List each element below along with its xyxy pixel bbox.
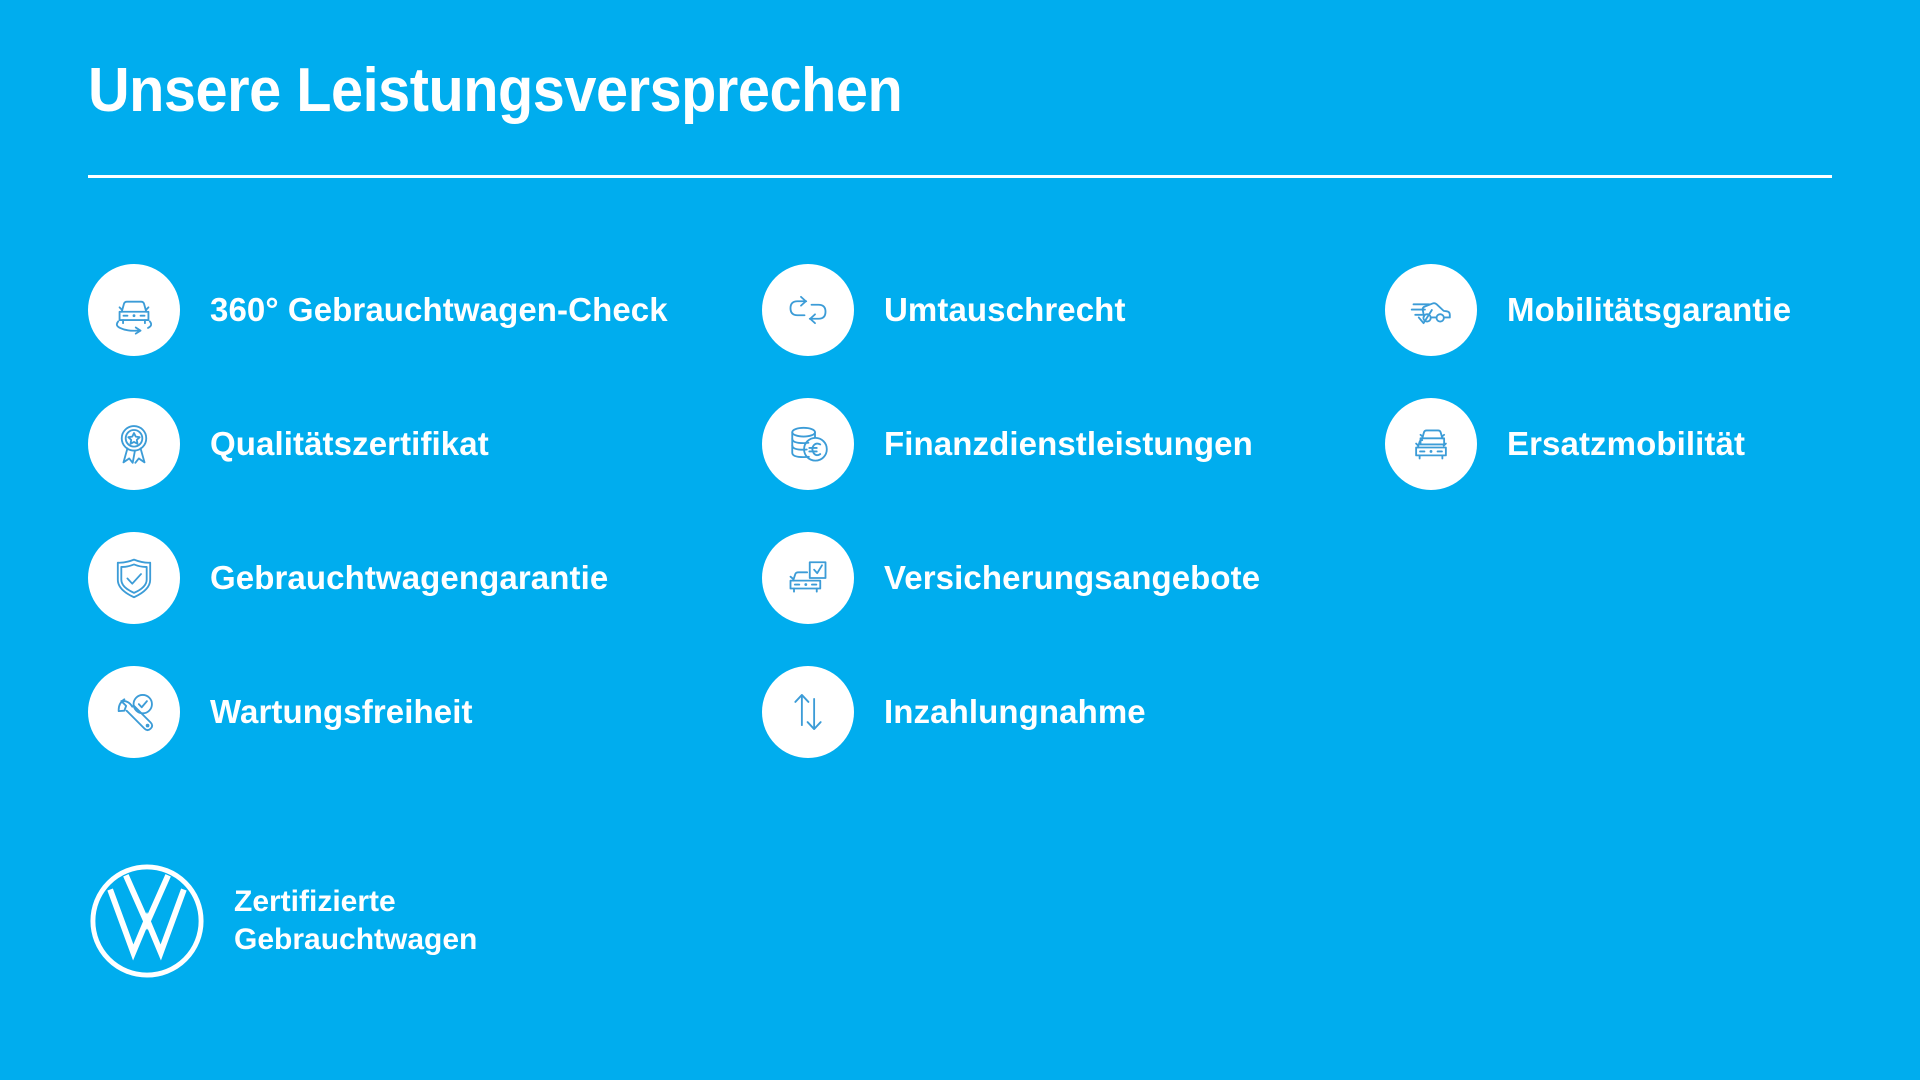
wrench-check-icon (88, 666, 180, 758)
feature-item-ersatzmobilitaet[interactable]: Ersatzmobilität (1385, 396, 1905, 492)
feature-item-mobilitaetsgarantie[interactable]: Mobilitätsgarantie (1385, 262, 1905, 358)
feature-item-gebrauchtwagen-check[interactable]: 360° Gebrauchtwagen-Check (88, 262, 608, 358)
feature-item-gebrauchtwagengarantie[interactable]: Gebrauchtwagengarantie (88, 530, 608, 626)
car-speed-check-icon (1385, 264, 1477, 356)
car-360-check-icon (88, 264, 180, 356)
volkswagen-logo (88, 862, 206, 980)
feature-label: Qualitätszertifikat (210, 425, 489, 463)
slide-root: Unsere Leistungsversprechen (0, 0, 1920, 1080)
header: Unsere Leistungsversprechen (88, 58, 1832, 123)
feature-columns: 360° Gebrauchtwagen-Check Qualitätszerti… (0, 262, 1920, 802)
feature-item-wartungsfreiheit[interactable]: Wartungsfreiheit (88, 664, 608, 760)
page-title: Unsere Leistungsversprechen (88, 58, 1710, 123)
feature-label: Ersatzmobilität (1507, 425, 1745, 463)
feature-label: 360° Gebrauchtwagen-Check (210, 291, 668, 329)
feature-item-finanzdienstleistungen[interactable]: Finanzdienstleistungen (762, 396, 1282, 492)
shield-check-icon (88, 532, 180, 624)
feature-label: Inzahlungnahme (884, 693, 1146, 731)
feature-item-qualitaetszertifikat[interactable]: Qualitätszertifikat (88, 396, 608, 492)
feature-column-3: Mobilitätsgarantie (1385, 262, 1905, 492)
exchange-arrows-icon (762, 264, 854, 356)
feature-item-umtauschrecht[interactable]: Umtauschrecht (762, 262, 1282, 358)
feature-column-2: Umtauschrecht Finanz (762, 262, 1282, 760)
feature-column-1: 360° Gebrauchtwagen-Check Qualitätszerti… (88, 262, 608, 760)
title-divider (88, 175, 1832, 178)
feature-label: Gebrauchtwagengarantie (210, 559, 608, 597)
feature-label: Finanzdienstleistungen (884, 425, 1253, 463)
brand-footer: Zertifizierte Gebrauchtwagen (88, 862, 477, 980)
feature-item-versicherungsangebote[interactable]: Versicherungsangebote (762, 530, 1282, 626)
up-down-arrows-icon (762, 666, 854, 758)
car-document-check-icon (762, 532, 854, 624)
award-rosette-icon (88, 398, 180, 490)
feature-item-inzahlungnahme[interactable]: Inzahlungnahme (762, 664, 1282, 760)
feature-label: Umtauschrecht (884, 291, 1126, 329)
feature-label: Mobilitätsgarantie (1507, 291, 1791, 329)
two-cars-icon (1385, 398, 1477, 490)
feature-label: Versicherungsangebote (884, 559, 1260, 597)
feature-label: Wartungsfreiheit (210, 693, 473, 731)
coins-euro-icon (762, 398, 854, 490)
brand-text: Zertifizierte Gebrauchtwagen (234, 883, 477, 960)
